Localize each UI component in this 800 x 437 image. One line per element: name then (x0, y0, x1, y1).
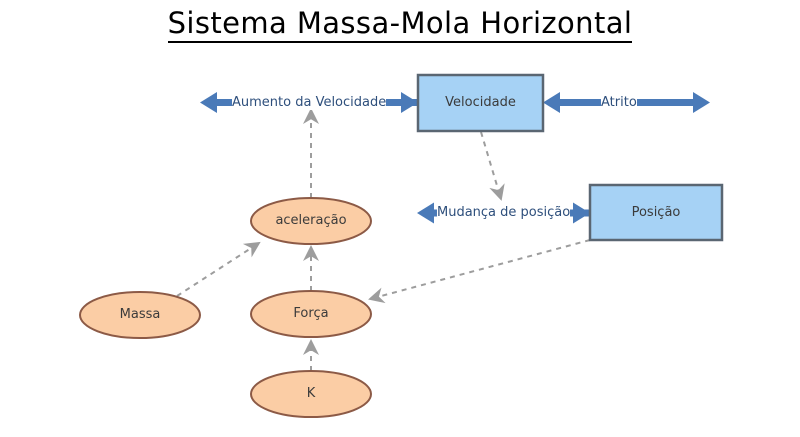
edge-massa-to-aceleracao (177, 243, 259, 296)
edge-posicao-to-forca (370, 240, 590, 299)
edge-label-atrito: Atrito (601, 95, 637, 110)
dashed-edges-layer (177, 110, 590, 371)
node-ellipse-k[interactable] (251, 371, 371, 417)
edge-velocidade-to-mudanca-posicao (481, 132, 501, 199)
node-ellipse-forca[interactable] (251, 291, 371, 337)
node-ellipse-aceleracao[interactable] (251, 198, 371, 244)
edge-label-mudanca-posicao: Mudança de posição (437, 205, 570, 220)
edge-label-aumento-velocidade: Aumento da Velocidade (232, 95, 386, 110)
diagram-canvas: Sistema Massa-Mola Horizontal (0, 0, 800, 437)
node-box-velocidade[interactable] (418, 75, 543, 131)
node-ellipse-massa[interactable] (80, 292, 200, 338)
node-box-posicao[interactable] (590, 185, 722, 240)
diagram-graphics (0, 0, 800, 437)
